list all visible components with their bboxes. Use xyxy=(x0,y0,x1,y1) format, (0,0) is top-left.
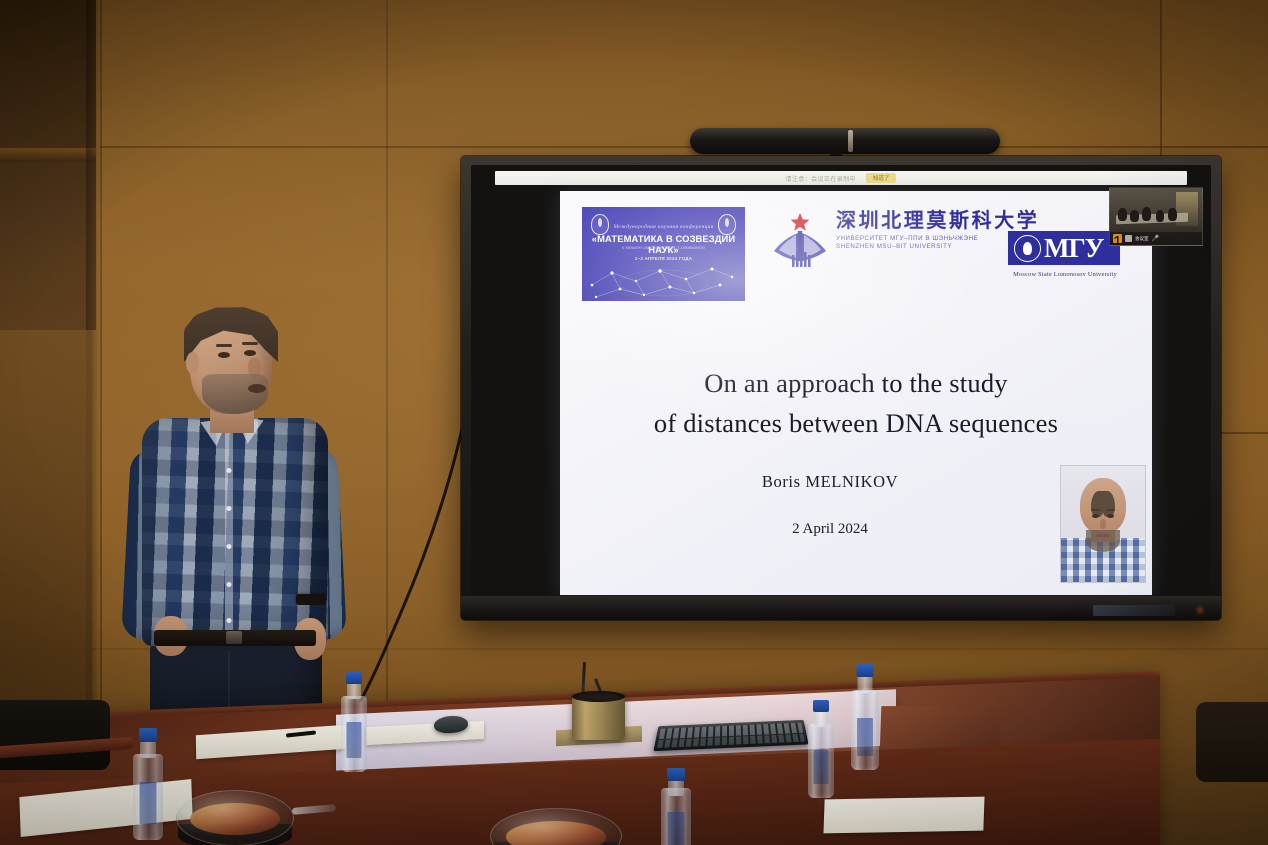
bottle-label xyxy=(814,750,829,784)
chair xyxy=(1196,702,1268,782)
shirt-placket xyxy=(225,428,233,640)
shirt-button xyxy=(227,468,232,473)
conference-logo: Международная научная конференция «МАТЕМ… xyxy=(582,207,745,301)
bottle-cap xyxy=(857,664,874,677)
presentation-slide: Международная научная конференция «МАТЕМ… xyxy=(560,191,1152,595)
remote-participant xyxy=(1168,208,1177,221)
remote-participant xyxy=(1118,208,1127,221)
shirt-button xyxy=(227,618,232,623)
slide-logo-row: Международная научная конференция «МАТЕМ… xyxy=(560,205,1152,301)
constellation-graphic-icon xyxy=(582,263,745,301)
video-call-name-bar: 1 会议室 🎤 xyxy=(1110,232,1202,245)
portrait-mouth xyxy=(1097,534,1110,537)
water-bottle xyxy=(341,672,367,772)
presenter-mouth xyxy=(248,384,266,393)
notification-dismiss-button[interactable]: 知道了 xyxy=(866,173,897,183)
presenter-beard xyxy=(202,374,268,414)
bottle-cap xyxy=(667,768,685,781)
conference-line3: к юбилею академика В. А. Садовничего xyxy=(582,246,745,251)
portrait-head xyxy=(1080,478,1126,534)
mgu-letters: МГУ xyxy=(1044,235,1103,262)
bottle-neck xyxy=(814,711,828,727)
bottle-neck xyxy=(347,683,361,699)
msu-bit-chinese: 深圳北理莫斯科大学 xyxy=(836,211,1039,231)
chair xyxy=(0,700,110,770)
notification-text: 请注意：会议正在录制中 xyxy=(786,174,856,183)
mgu-subtitle: Moscow State Lomonosov University xyxy=(1000,271,1130,278)
shirt-button xyxy=(227,506,232,511)
bottle-label xyxy=(668,812,685,845)
remote-participant xyxy=(1156,210,1164,222)
conference-room-photo: 请注意：会议正在录制中 知道了 Международная научная ко… xyxy=(0,0,1268,845)
food-container-lid xyxy=(176,790,294,845)
portrait-brow-right xyxy=(1091,509,1100,511)
presenter-ear xyxy=(186,352,199,374)
portrait-eye-right xyxy=(1092,514,1099,518)
slide-title-line1: On an approach to the study xyxy=(560,363,1152,403)
bottle-neck xyxy=(140,740,156,758)
display-screen[interactable]: 请注意：会议正在录制中 知道了 Международная научная ко… xyxy=(471,165,1211,598)
paper-sheet xyxy=(823,797,984,834)
notification-bar[interactable]: 请注意：会议正在录制中 知道了 xyxy=(495,171,1187,185)
bottle-label xyxy=(347,722,362,758)
video-call-participant-name: 会议室 xyxy=(1135,236,1149,242)
bottle-label xyxy=(857,718,873,756)
bottle-cap xyxy=(346,672,362,684)
mgu-wreath-icon xyxy=(1014,235,1041,262)
presenter-shirt xyxy=(142,418,328,646)
presenter xyxy=(98,300,360,770)
video-call-user-icon xyxy=(1125,235,1132,242)
mgu-logo: МГУ xyxy=(1008,231,1120,265)
video-call-badge: 1 xyxy=(1113,234,1122,243)
conference-line4: 1–3 АПРЕЛЯ 2024 ГОДА xyxy=(582,256,745,261)
speaker-portrait xyxy=(1060,465,1146,583)
bottle-label xyxy=(140,782,157,824)
remote-participant xyxy=(1130,210,1139,222)
bottle-cap xyxy=(139,728,157,742)
food-container xyxy=(176,790,294,845)
soundbar xyxy=(690,128,1000,154)
shirt-button xyxy=(227,582,232,587)
display-power-led xyxy=(1197,607,1203,613)
bottle-cap xyxy=(813,700,829,712)
bottle-neck xyxy=(858,676,873,693)
slide-title: On an approach to the study of distances… xyxy=(560,363,1152,444)
presenter-eye-right xyxy=(244,350,256,356)
water-bottle xyxy=(851,664,879,770)
pen-holder-rim xyxy=(572,691,625,702)
presenter-brow-left xyxy=(216,344,232,347)
wristwatch xyxy=(296,594,326,605)
water-bottle xyxy=(808,700,834,798)
presenter-brow-right xyxy=(242,342,258,345)
bottle-neck xyxy=(668,780,684,796)
portrait-eye-left xyxy=(1107,514,1114,518)
display-chin xyxy=(461,596,1221,620)
display-brand-logo xyxy=(1093,605,1175,616)
water-bottle xyxy=(661,768,691,845)
belt-buckle xyxy=(226,631,242,644)
remote-participant xyxy=(1142,207,1151,221)
slide-title-line2: of distances between DNA sequences xyxy=(560,403,1152,443)
shirt-button xyxy=(227,544,232,549)
wall-display[interactable]: 请注意：会议正在录制中 知道了 Международная научная ко… xyxy=(461,156,1221,620)
portrait-brow-left xyxy=(1106,509,1115,511)
msu-bit-emblem-icon xyxy=(772,211,828,269)
microphone-icon: 🎤 xyxy=(1152,235,1159,242)
video-call-thumbnail[interactable]: 1 会议室 🎤 xyxy=(1109,187,1203,246)
conference-line1: Международная научная конференция xyxy=(582,224,745,230)
presenter-eye-left xyxy=(218,352,230,358)
portrait-nose xyxy=(1100,519,1106,529)
conference-line2: «МАТЕМАТИКА В СОЗВЕЗДИИ НАУК» xyxy=(582,233,745,255)
water-bottle xyxy=(133,728,163,840)
